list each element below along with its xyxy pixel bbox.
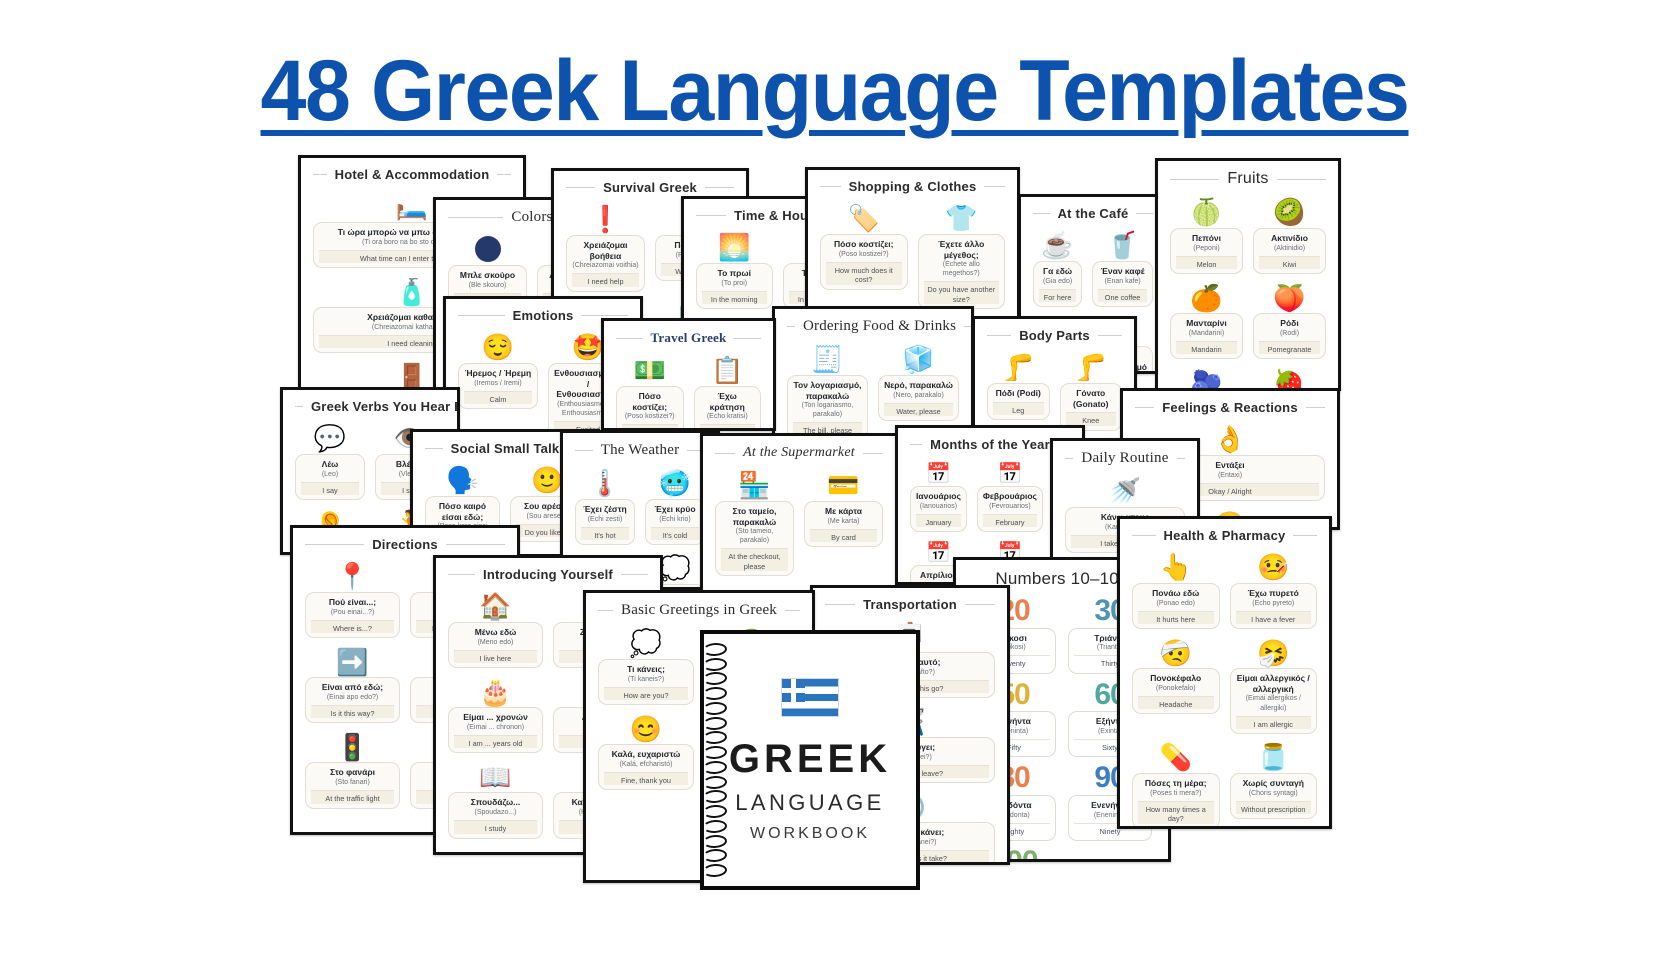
transliteration-text: (Echi zesti): [581, 515, 629, 524]
phrase-entry[interactable]: 🦵Πόδι (Podi)Leg: [987, 353, 1050, 431]
card-title: Emotions: [513, 308, 574, 323]
cash-register-icon: 🏪: [738, 471, 770, 501]
spiral-ring: [703, 716, 728, 731]
rule-left: [1065, 458, 1073, 459]
template-card-fruits[interactable]: Fruits🍈Πεπόνι(Peponi)Melon🥝Ακτινίδιο(Akt…: [1155, 158, 1341, 391]
rule-left: [825, 604, 855, 605]
rule-left: [910, 444, 922, 445]
card-entry-grid: 💵Πόσο κοστίζει;(Poso kostizei?)How much …: [604, 350, 773, 431]
card-title: Social Small Talk: [451, 441, 560, 456]
transliteration-text: (Ponokefalo): [1138, 684, 1214, 693]
greek-text: Ρόδι: [1259, 318, 1320, 329]
book-graduation-icon: 📖: [479, 762, 511, 792]
phrase-pill: Πόσο κοστίζει;(Poso kostizei?)How much d…: [616, 386, 684, 431]
birthday-cake-icon: 🎂: [479, 677, 511, 707]
templates-collage: Hotel & Accommodation🛏️Τι ώρα μπορώ να μ…: [0, 0, 1669, 975]
rule-left: [313, 174, 327, 175]
phrase-pill: Έχω πυρετό(Echo pyreto)I have a fever: [1230, 583, 1318, 629]
english-text: How many times a day?: [1138, 801, 1214, 824]
card-header: Travel Greek: [604, 321, 773, 350]
english-text: I need help: [572, 273, 639, 286]
english-text: I have a fever: [1236, 611, 1312, 624]
transliteration-text: (Ton logariasmo, parakalo): [793, 401, 862, 419]
phrase-pill: Είμαι αλλεργικός / αλλεργική(Eimai aller…: [1230, 668, 1318, 734]
rule-left: [1132, 535, 1156, 536]
phrase-pill: Λέω(Leo)I say: [295, 454, 365, 500]
english-text: In the morning: [702, 291, 767, 304]
card-header: The Weather: [563, 433, 717, 463]
rule-left: [616, 338, 643, 339]
template-card-at-the-supermarket[interactable]: At the Supermarket🏪Στο ταμείο, παρακαλώ(…: [700, 433, 898, 595]
transliteration-text: (Fevrouarios): [983, 502, 1037, 511]
rule-left: [566, 187, 595, 188]
phrase-entry[interactable]: 💊Πόσες τη μέρα;(Poses ti mera?)How many …: [1132, 743, 1220, 829]
rule-left: [575, 450, 593, 451]
spiral-ring: [703, 657, 728, 672]
phrase-entry[interactable]: 🦵Γόνατο (Gonato)Knee: [1060, 353, 1123, 431]
card-header: Daily Routine: [1053, 441, 1197, 471]
phrase-entry[interactable]: 🍊Μανταρίνι(Mandarini)Mandarin: [1170, 283, 1243, 359]
phrase-pill: Έχει κρύο(Echi krio)It's cold: [645, 499, 705, 545]
card-title: At the Supermarket: [743, 445, 855, 461]
rule-left: [1033, 213, 1050, 214]
phrase-pill: Ήρεμος / Ήρεμη(Iremos / Iremi)Calm: [458, 363, 538, 409]
transliteration-text: (Poso kostizei?): [622, 412, 678, 421]
spiral-ring: [703, 642, 728, 657]
calendar-february-icon: 📅: [998, 462, 1023, 486]
greek-text: Είναι από εδώ;: [311, 682, 394, 693]
phrase-pill: Πονοκέφαλο(Ponokefalo)Headache: [1132, 668, 1220, 714]
phrase-pill: Καλά, ευχαριστώ(Kalá, efcharistó)Fine, t…: [598, 744, 694, 790]
english-text: I am allergic: [1236, 716, 1312, 729]
card-header: Hotel & Accommodation: [301, 158, 523, 186]
transliteration-text: (Echete allo megethos?): [924, 260, 1000, 278]
rule-left: [448, 217, 503, 218]
workbook-title-workbook: WORKBOOK: [750, 825, 870, 843]
pomegranate-icon: 🍑: [1273, 283, 1305, 313]
english-text: Fine, thank you: [604, 772, 688, 785]
phrase-entry[interactable]: ➡️Είναι από εδώ;(Einai apo edo?)Is it th…: [305, 647, 400, 723]
card-title: Transportation: [863, 597, 957, 612]
rule-right: [1277, 179, 1326, 180]
rule-right: [705, 187, 734, 188]
transliteration-text: (Einai apo edo?): [311, 693, 394, 702]
spiral-ring: [703, 804, 728, 819]
phrase-pill: Μένω εδώ(Meno edo)I live here: [448, 622, 543, 668]
transliteration-text: (Eimai allergikos / allergiki): [1236, 694, 1312, 712]
greek-text: Φεβρουάριος: [983, 491, 1037, 502]
question-cloud-icon: 💭: [659, 554, 691, 584]
card-entry-grid: 🏪Στο ταμείο, παρακαλώ(Sto tameio, paraka…: [703, 465, 895, 595]
phrase-entry[interactable]: 🚦Στο φανάρι(Sto fanari)At the traffic li…: [305, 732, 400, 808]
phrase-entry[interactable]: 🍈Πεπόνι(Peponi)Melon: [1170, 198, 1243, 274]
phrase-pill: Έχει ζέστη(Echi zesti)It's hot: [575, 499, 635, 545]
english-text: How much does it cost?: [826, 262, 902, 285]
english-text: I am ... years old: [454, 735, 537, 748]
transliteration-text: (Meno edo): [454, 638, 537, 647]
phrase-entry[interactable]: 📖Σπουδάζω...(Spoudazo...)I study: [448, 762, 543, 838]
english-text: Without prescription: [1236, 801, 1312, 814]
greek-text: Μπλε σκούρο: [454, 270, 521, 281]
greek-text: Ήρεμος / Ήρεμη: [464, 368, 532, 379]
spiral-ring: [703, 701, 728, 716]
map-pin-icon: 📍: [336, 562, 368, 592]
card-title: Introducing Yourself: [483, 567, 613, 582]
english-text: February: [983, 514, 1037, 527]
english-text: Where is...?: [311, 620, 394, 633]
english-text: I say: [301, 482, 359, 495]
leg-icon: 🦵: [1002, 353, 1034, 383]
smile-icon: 🙂: [531, 466, 563, 496]
phrase-pill: Ρόδι(Rodi)Pomegranate: [1253, 313, 1326, 359]
phrase-pill: Πόσες τη μέρα;(Poses ti mera?)How many t…: [1132, 773, 1220, 829]
english-text: Headache: [1138, 696, 1214, 709]
greek-text: Γόνατο (Gonato): [1066, 388, 1117, 409]
rule-left: [425, 448, 443, 449]
card-title: Basic Greetings in Greek: [621, 602, 777, 619]
rule-right: [1098, 335, 1122, 336]
spiral-ring: [703, 731, 728, 746]
transliteration-text: (Poso kostizei?): [826, 250, 902, 259]
english-text: At the checkout, please: [721, 548, 788, 571]
phrase-entry[interactable]: 😊Καλά, ευχαριστώ(Kalá, efcharistó)Fine, …: [598, 714, 694, 790]
card-title: Greek Verbs You Hear Everywhere: [311, 399, 460, 414]
transliteration-text: (Choris syntagi): [1236, 789, 1312, 798]
question-bubble-icon: 💭: [630, 629, 662, 659]
transliteration-text: (To proi): [702, 279, 767, 288]
greek-text: Έχει ζέστη: [581, 504, 629, 515]
phrase-entry[interactable]: 👆Πονάω εδώ(Ponao edo)It hurts here: [1132, 553, 1220, 629]
phrase-pill: Έχω κράτηση(Echo kratisi)I have a reserv…: [694, 386, 762, 431]
phrase-entry[interactable]: 🍑Ρόδι(Rodi)Pomegranate: [1253, 283, 1326, 359]
greek-text: Το πρωί: [702, 268, 767, 279]
rule-right: [964, 326, 972, 327]
workbook-cover[interactable]: GREEKLANGUAGEWORKBOOK: [700, 630, 920, 890]
calendar-april-icon: 📅: [926, 541, 951, 565]
rule-left: [448, 574, 475, 575]
rule-left: [696, 215, 726, 216]
rule-right: [734, 338, 761, 339]
medicine-jar-icon: 🫙: [1257, 743, 1289, 773]
card-header: Fruits: [1158, 161, 1338, 192]
transliteration-text: (Enan kafe): [1098, 277, 1147, 286]
greek-text: Νερό, παρακαλώ: [884, 380, 953, 391]
water-bottle-icon: 🧊: [902, 345, 934, 375]
phrase-pill: Έχετε άλλο μέγεθος;(Echete allo megethos…: [918, 234, 1006, 309]
card-header: Basic Greetings in Greek: [586, 593, 812, 623]
rule-left: [987, 335, 1011, 336]
english-text: Kiwi: [1259, 256, 1320, 269]
card-header: Body Parts: [975, 319, 1134, 347]
spiral-ring: [703, 775, 728, 790]
speech-bubble-icon: 💬: [314, 424, 346, 454]
english-text: For here: [1039, 289, 1076, 302]
rule-right: [1306, 407, 1325, 408]
transliteration-text: (Iremos / Iremi): [464, 379, 532, 388]
phrase-entry[interactable]: 📍Πού είναι...;(Pou einai...?)Where is...…: [305, 562, 400, 638]
phrase-pill: Στο ταμείο, παρακαλώ(Sto tameio, parakal…: [715, 501, 794, 576]
phrase-entry[interactable]: 🏠Μένω εδώ(Meno edo)I live here: [448, 592, 543, 668]
phrase-pill: Πόδι (Podi)Leg: [987, 383, 1050, 420]
card-header: Shopping & Clothes: [808, 170, 1017, 198]
card-header: Ordering Food & Drinks: [775, 309, 971, 339]
tshirt-icon: 👕: [945, 204, 977, 234]
fever-face-icon: 🤒: [1257, 553, 1289, 583]
phrase-entry[interactable]: ❗Χρειάζομαι βοήθεια(Chreiazomai voithia)…: [566, 205, 645, 292]
mandarin-icon: 🍊: [1190, 283, 1222, 313]
cleaning-icon: 🧴: [396, 277, 428, 307]
phrase-entry[interactable]: 🥤Έναν καφέ(Enan kafe)One coffee: [1092, 231, 1153, 307]
phrase-entry[interactable]: 🧾Τον λογαριασμό, παρακαλώ(Ton logariasmo…: [787, 345, 868, 441]
card-title: Hotel & Accommodation: [335, 167, 490, 182]
transliteration-text: (Ti kaneis?): [604, 675, 688, 684]
transliteration-text: (Aktinidio): [1259, 244, 1320, 253]
transliteration-text: (Spoudazo...): [454, 808, 537, 817]
workbook-title-greek: GREEK: [729, 739, 891, 779]
transliteration-text: (Sto fanari): [311, 778, 394, 787]
clipboard-icon: 📋: [711, 356, 743, 386]
greek-flag-icon: [781, 678, 839, 717]
phrase-entry[interactable]: 📅Ιανουάριος(Ianouarios)January: [910, 462, 967, 532]
phrase-entry[interactable]: 🌅Το πρωί(To proi)In the morning: [696, 233, 773, 309]
english-text: It's cold: [651, 527, 699, 540]
phrase-entry[interactable]: 💳Με κάρτα(Me karta)By card: [804, 471, 883, 576]
card-title: Body Parts: [1019, 328, 1090, 343]
phrase-entry[interactable]: 🤧Είμαι αλλεργικός / αλλεργική(Eimai alle…: [1230, 638, 1318, 734]
phrase-entry[interactable]: 🤕Πονοκέφαλο(Ponokefalo)Headache: [1132, 638, 1220, 734]
phrase-entry[interactable]: 💬Λέω(Leo)I say: [295, 424, 365, 500]
card-title: Health & Pharmacy: [1164, 528, 1286, 543]
wallet-icon: 💵: [634, 356, 666, 386]
card-title: Fruits: [1227, 170, 1268, 188]
phrase-pill: Σπουδάζω...(Spoudazo...)I study: [448, 792, 543, 838]
transliteration-text: (Sto tameio, parakalo): [721, 527, 788, 545]
greek-text: Πεπόνι: [1176, 233, 1237, 244]
greek-text: Έχω πυρετό: [1236, 588, 1312, 599]
greek-text: Με κάρτα: [810, 506, 877, 517]
phrase-pill: Πού είναι...;(Pou einai...?)Where is...?: [305, 592, 400, 638]
rule-right: [984, 186, 1005, 187]
phrase-entry[interactable]: 🌡️Έχει ζέστη(Echi zesti)It's hot: [575, 469, 635, 545]
greek-text: Είμαι ... χρονών: [454, 712, 537, 723]
rule-left: [787, 326, 795, 327]
phrase-pill: Νερό, παρακαλώ(Nero, parakalo)Water, ple…: [878, 375, 959, 421]
greek-text: Στο ταμείο, παρακαλώ: [721, 506, 788, 527]
greek-text: Ακτινίδιο: [1259, 233, 1320, 244]
transliteration-text: (Eimai ... chronon): [454, 723, 537, 732]
card-title: Shopping & Clothes: [849, 179, 977, 194]
rule-left: [1135, 407, 1154, 408]
greek-text: Πόσες τη μέρα;: [1138, 778, 1214, 789]
sunrise-icon: 🌅: [718, 233, 750, 263]
english-text: Melon: [1176, 256, 1237, 269]
english-text: I live here: [454, 650, 537, 663]
phrase-entry[interactable]: 🎂Είμαι ... χρονών(Eimai ... chronon)I am…: [448, 677, 543, 753]
transliteration-text: (Nero, parakalo): [884, 391, 953, 400]
english-text: Calm: [464, 391, 532, 404]
phrase-pill: Είμαι ... χρονών(Eimai ... chronon)I am …: [448, 707, 543, 753]
greek-text: Πόσο καιρό είσαι εδώ;: [431, 501, 494, 522]
english-text: January: [916, 514, 961, 527]
greek-text: Τι κάνεις;: [604, 664, 688, 675]
transliteration-text: (Chreiazomai voithia): [572, 261, 639, 270]
phrase-entry[interactable]: 😌Ήρεμος / Ήρεμη(Iremos / Iremi)Calm: [458, 333, 538, 440]
spiral-ring: [703, 760, 728, 775]
greek-text: Πονοκέφαλο: [1138, 673, 1214, 684]
spiral-ring: [703, 790, 728, 805]
bill-icon: 🧾: [811, 345, 843, 375]
phrase-entry[interactable]: 🤒Έχω πυρετό(Echo pyreto)I have a fever: [1230, 553, 1318, 629]
greek-text: Έναν καφέ: [1098, 266, 1147, 277]
phrase-pill: Μανταρίνι(Mandarini)Mandarin: [1170, 313, 1243, 359]
phrase-pill: Είναι από εδώ;(Einai apo edo?)Is it this…: [305, 677, 400, 723]
phrase-entry[interactable]: 📋Έχω κράτηση(Echo kratisi)I have a reser…: [694, 356, 762, 431]
card-title: Months of the Year: [930, 437, 1050, 452]
price-tag-icon: 🏷️: [848, 204, 880, 234]
smiling-face-icon: 😊: [630, 714, 662, 744]
chat-bubbles-icon: 🗣️: [446, 466, 478, 496]
bed-icon: 🛏️: [396, 192, 428, 222]
phrase-entry[interactable]: 👕Έχετε άλλο μέγεθος;(Echete allo megetho…: [918, 204, 1006, 309]
rule-right: [1136, 213, 1153, 214]
spiral-ring: [703, 819, 728, 834]
phrase-pill: Τον λογαριασμό, παρακαλώ(Ton logariasmo,…: [787, 375, 868, 441]
english-text: Water, please: [884, 403, 953, 416]
english-text: One coffee: [1098, 289, 1147, 302]
spiral-ring: [703, 863, 728, 878]
rule-left: [295, 406, 303, 407]
greek-text: Πόσο κοστίζει;: [622, 391, 678, 412]
phrase-pill: Χωρίς συνταγή(Choris syntagi)Without pre…: [1230, 773, 1318, 819]
phrase-pill: Έναν καφέ(Enan kafe)One coffee: [1092, 261, 1153, 307]
transliteration-text: (Leo): [301, 470, 359, 479]
excited-face-icon: 🤩: [572, 333, 604, 363]
phrase-pill: Γόνατο (Gonato)Knee: [1060, 383, 1123, 431]
rule-right: [863, 453, 883, 454]
takeaway-icon: 🥤: [1106, 231, 1138, 261]
rule-right: [446, 544, 505, 545]
greek-text: Πού είναι...;: [311, 597, 394, 608]
phrase-entry[interactable]: ☕Γα εδώ(Gia edo)For here: [1033, 231, 1082, 307]
rule-right: [581, 315, 628, 316]
pills-question-icon: 💊: [1160, 743, 1192, 773]
melon-icon: 🍈: [1190, 198, 1222, 228]
template-card-travel-greek[interactable]: Travel Greek💵Πόσο κοστίζει;(Poso kostize…: [601, 318, 776, 431]
english-text: At the traffic light: [311, 790, 394, 803]
calm-face-icon: 😌: [482, 333, 514, 363]
phrase-entry[interactable]: 💭Τι κάνεις;(Ti kaneis?)How are you?: [598, 629, 694, 705]
phrase-entry[interactable]: 🫙Χωρίς συνταγή(Choris syntagi)Without pr…: [1230, 743, 1318, 829]
transliteration-text: (Rodi): [1259, 329, 1320, 338]
card-title: Directions: [372, 537, 438, 552]
card-title: Colors: [511, 209, 552, 226]
card-title: Ordering Food & Drinks: [803, 318, 956, 335]
rule-left: [820, 186, 841, 187]
english-text: Mandarin: [1176, 341, 1237, 354]
spiral-ring: [703, 672, 728, 687]
english-text: Do you have another size?: [924, 281, 1000, 304]
spiral-binding-icon: [703, 634, 729, 886]
phrase-pill: Γα εδώ(Gia edo)For here: [1033, 261, 1082, 307]
house-icon: 🏠: [479, 592, 511, 622]
phrase-entry[interactable]: 🏷️Πόσο κοστίζει;(Poso kostizei?)How much…: [820, 204, 908, 309]
rule-right: [785, 610, 800, 611]
english-text: Pomegranate: [1259, 341, 1320, 354]
spiral-ring: [703, 686, 728, 701]
knee-icon: 🦵: [1075, 353, 1107, 383]
ok-hand-icon: 👌: [1214, 425, 1246, 455]
greek-text: Μανταρίνι: [1176, 318, 1237, 329]
phrase-entry[interactable]: 🏪Στο ταμείο, παρακαλώ(Sto tameio, paraka…: [715, 471, 794, 576]
transliteration-text: (Me karta): [810, 517, 877, 526]
coffee-cup-icon: ☕: [1041, 231, 1073, 261]
transliteration-text: (Gia edo): [1039, 277, 1076, 286]
transliteration-text: (Poses ti mera?): [1138, 789, 1214, 798]
greek-text: Σπουδάζω...: [454, 797, 537, 808]
phrase-entry[interactable]: 🥶Έχει κρύο(Echi krio)It's cold: [645, 469, 705, 545]
allergy-icon: 🤧: [1257, 638, 1289, 668]
rule-right: [1177, 458, 1185, 459]
transliteration-text: (Echo pyreto): [1236, 599, 1312, 608]
dark-blue-swatch: [475, 236, 501, 262]
greek-text: Είμαι αλλεργικός / αλλεργική: [1236, 673, 1312, 694]
greek-text: Πονάω εδώ: [1138, 588, 1214, 599]
alert-icon: ❗: [589, 205, 621, 235]
rule-left: [715, 453, 735, 454]
greek-text: Έχω κράτηση: [700, 391, 756, 412]
card-header: Health & Pharmacy: [1120, 519, 1329, 547]
template-card-health-pharmacy[interactable]: Health & Pharmacy👆Πονάω εδώ(Ponao edo)It…: [1117, 516, 1332, 829]
phrase-pill: Ακτινίδιο(Aktinidio)Kiwi: [1253, 228, 1326, 274]
phrase-pill: Πεπόνι(Peponi)Melon: [1170, 228, 1243, 274]
card-header: At the Supermarket: [703, 436, 895, 465]
card-header: At the Café: [1021, 197, 1165, 225]
phrase-pill: Με κάρτα(Me karta)By card: [804, 501, 883, 547]
phrase-entry[interactable]: 📅Φεβρουάριος(Fevrouarios)February: [977, 462, 1043, 532]
transliteration-text: (Ianouarios): [916, 502, 961, 511]
card-title: Survival Greek: [603, 180, 697, 195]
spiral-ring: [703, 834, 728, 849]
greek-text: Ιανουάριος: [916, 491, 961, 502]
phrase-pill: Πονάω εδώ(Ponao edo)It hurts here: [1132, 583, 1220, 629]
thermometer-cold-icon: 🥶: [659, 469, 691, 499]
english-text: Knee: [1066, 412, 1117, 425]
card-title: The Weather: [601, 442, 680, 459]
rule-right: [621, 574, 648, 575]
greek-text: Πόσο κοστίζει;: [826, 239, 902, 250]
rule-left: [1170, 179, 1219, 180]
card-header: Introducing Yourself: [436, 558, 660, 586]
greek-text: Καλά, ευχαριστώ: [604, 749, 688, 760]
card-header: Survival Greek: [554, 171, 746, 199]
credit-card-icon: 💳: [827, 471, 859, 501]
card-title: Daily Routine: [1081, 450, 1168, 467]
card-entry-grid: 👆Πονάω εδώ(Ponao edo)It hurts here🤒Έχω π…: [1120, 547, 1329, 829]
phrase-pill: Χρειάζομαι βοήθεια(Chreiazomai voithia)I…: [566, 235, 645, 292]
phrase-entry[interactable]: 🥝Ακτινίδιο(Aktinidio)Kiwi: [1253, 198, 1326, 274]
calendar-january-icon: 📅: [926, 462, 951, 486]
transliteration-text: (Pou einai...?): [311, 608, 394, 617]
kiwi-icon: 🥝: [1273, 198, 1305, 228]
transliteration-text: (Ble skouro): [454, 281, 521, 290]
card-title: Travel Greek: [651, 330, 727, 346]
greek-text: Έχετε άλλο μέγεθος;: [924, 239, 1000, 260]
english-text: By card: [810, 529, 877, 542]
phrase-entry[interactable]: 💵Πόσο κοστίζει;(Poso kostizei?)How much …: [616, 356, 684, 431]
phrase-pill: Πόσο κοστίζει;(Poso kostizei?)How much d…: [820, 234, 908, 290]
rule-right: [1293, 535, 1317, 536]
greek-text: Έχει κρύο: [651, 504, 699, 515]
